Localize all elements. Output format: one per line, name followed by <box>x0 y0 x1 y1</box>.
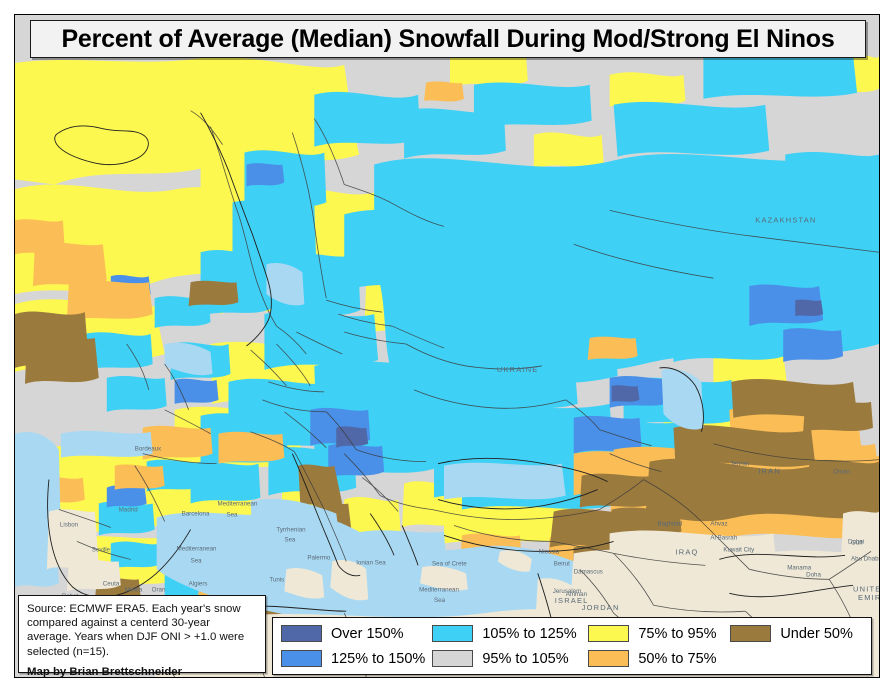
map-title-box: Percent of Average (Median) Snowfall Dur… <box>30 20 866 58</box>
legend-swatch-125-150 <box>281 650 322 667</box>
map-place-label: Mediterranean <box>177 545 217 552</box>
map-page: MediterraneanSeaMediterraneanSeaTyrrheni… <box>0 0 896 692</box>
map-place-label: Melilla <box>125 586 143 593</box>
legend-swatch-over-150 <box>281 625 322 642</box>
legend-entry-50-75: 50% to 75% <box>588 649 728 668</box>
legend-entry-105-125: 105% to 125% <box>432 624 586 643</box>
map-place-label: Oman <box>833 469 850 476</box>
map-place-label: Sea <box>284 536 296 543</box>
map-frame: MediterraneanSeaMediterraneanSeaTyrrheni… <box>14 14 880 678</box>
map-place-label: Ionian Sea <box>356 559 386 566</box>
map-place-label: IRAQ <box>675 547 698 556</box>
page-title: Percent of Average (Median) Snowfall Dur… <box>61 25 834 54</box>
map-credit: Map by Brian Brettschneider <box>27 666 257 678</box>
map-place-label: Kuwait City <box>723 546 755 553</box>
legend-swatch-75-95 <box>588 625 629 642</box>
map-place-label: Baghdad <box>658 520 683 527</box>
map-place-label: Barcelona <box>182 510 210 517</box>
map-place-label: Mediterranean <box>419 586 459 593</box>
map-place-label: Ahvaz <box>710 520 727 527</box>
map-place-label: Oran <box>152 586 166 593</box>
legend-swatch-50-75 <box>588 650 629 667</box>
map-place-label: Tyrrhenian <box>276 526 306 533</box>
map-place-label: Tehran <box>730 461 749 468</box>
legend-entry-125-150: 125% to 150% <box>281 649 430 668</box>
map-place-label: Sea <box>434 597 446 604</box>
legend-label-95-105: 95% to 105% <box>482 651 568 667</box>
map-place-label: Sea <box>191 557 203 564</box>
map-place-label: Doha <box>806 571 821 578</box>
legend-column-1: Over 150% 125% to 150% <box>281 624 430 668</box>
map-place-label: Abu Dhabi <box>851 555 879 562</box>
legend-entry-75-95: 75% to 95% <box>588 624 728 643</box>
map-place-label: Beirut <box>554 560 570 567</box>
legend-entry-over-150: Over 150% <box>281 624 430 643</box>
legend-label-under-50: Under 50% <box>780 626 853 642</box>
source-note-box: Source: ECMWF ERA5. Each year's snow com… <box>18 595 266 673</box>
map-place-label: JORDAN <box>582 603 620 612</box>
map-place-label: Sea of Crete <box>432 560 467 567</box>
map-place-label: KAZAKHSTAN <box>755 215 816 224</box>
legend-column-4: Under 50% <box>730 624 861 668</box>
map-svg: MediterraneanSeaMediterraneanSeaTyrrheni… <box>15 15 879 677</box>
map-place-label: Dubai <box>848 538 864 545</box>
map-place-label: EMIRATES <box>858 593 879 602</box>
legend-entry-under-50: Under 50% <box>730 624 861 643</box>
map-place-label: Tunis <box>269 576 284 583</box>
legend-entry-95-105: 95% to 105% <box>432 649 586 668</box>
legend-spacer <box>730 649 861 668</box>
legend: Over 150% 125% to 150% 105% to 125% 95% … <box>272 617 872 675</box>
map-place-label: Palermo <box>307 554 331 561</box>
map-place-label: UNITED ARAB <box>853 584 879 593</box>
map-place-label: Damascus <box>574 568 603 575</box>
map-place-label: Seville <box>92 546 111 553</box>
map-place-label: Bordeaux <box>135 446 162 453</box>
legend-swatch-95-105 <box>432 650 473 667</box>
map-place-label: Lisbon <box>60 521 79 528</box>
legend-column-2: 105% to 125% 95% to 105% <box>432 624 586 668</box>
snowfall-choropleth-map: MediterraneanSeaMediterraneanSeaTyrrheni… <box>15 15 879 677</box>
legend-label-50-75: 50% to 75% <box>638 651 716 667</box>
map-place-label: Manama <box>787 564 812 571</box>
map-place-label: Al Basrah <box>710 534 737 541</box>
map-place-label: IRAN <box>758 467 781 476</box>
map-place-label: Sea <box>227 511 239 518</box>
legend-swatch-under-50 <box>730 625 771 642</box>
legend-label-105-125: 105% to 125% <box>482 626 576 642</box>
map-place-label: Nicosia <box>539 548 560 555</box>
source-text: Source: ECMWF ERA5. Each year's snow com… <box>27 602 257 659</box>
map-place-label: Algiers <box>189 580 208 587</box>
map-place-label: Ceuta <box>103 580 120 587</box>
legend-label-over-150: Over 150% <box>331 626 404 642</box>
legend-swatch-105-125 <box>432 625 473 642</box>
legend-label-125-150: 125% to 150% <box>331 651 425 667</box>
map-place-label: Madrid <box>119 507 138 514</box>
map-place-label: UKRAINE <box>497 365 539 374</box>
legend-label-75-95: 75% to 95% <box>638 626 716 642</box>
legend-column-3: 75% to 95% 50% to 75% <box>588 624 728 668</box>
map-place-label: Mediterranean <box>218 501 258 508</box>
